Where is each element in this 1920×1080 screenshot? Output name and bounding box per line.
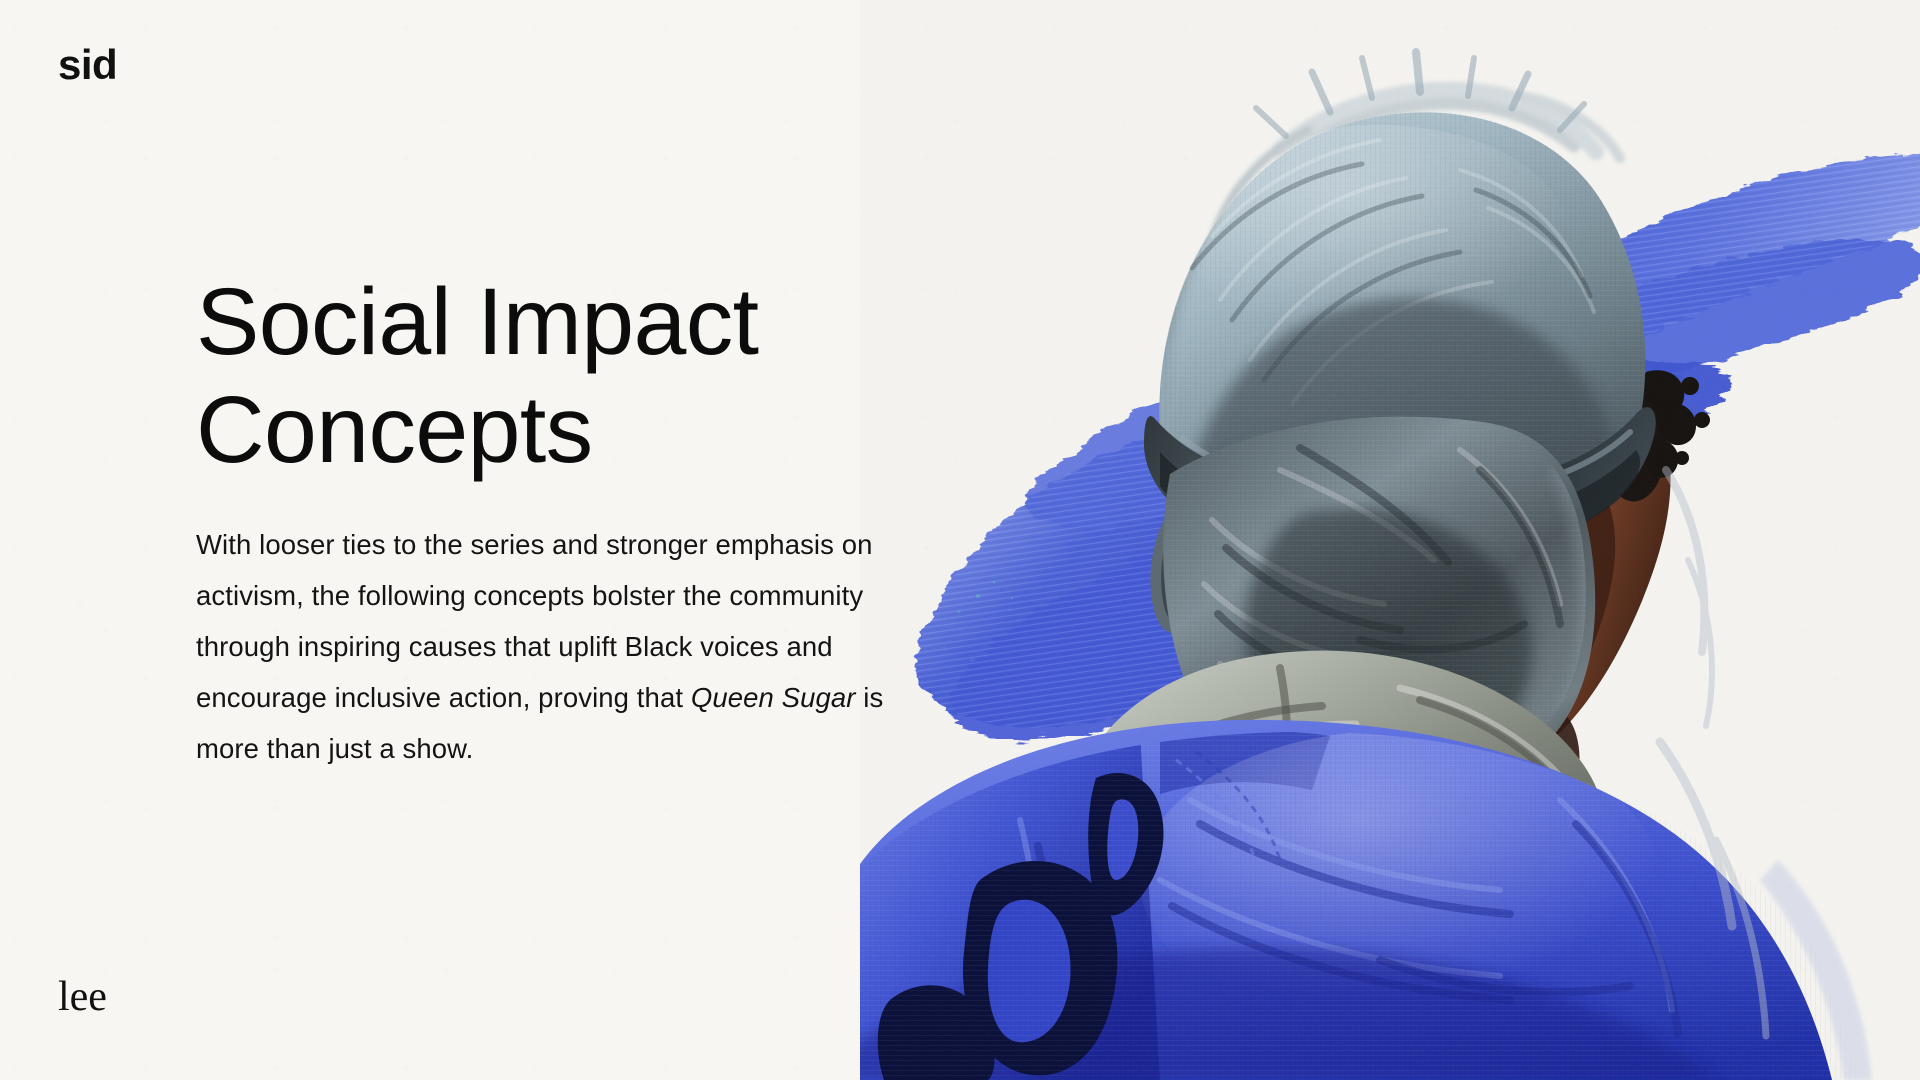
page-title: Social Impact Concepts xyxy=(196,268,896,485)
body-emphasis-queen-sugar: Queen Sugar xyxy=(691,682,856,713)
text-column: Social Impact Concepts With looser ties … xyxy=(196,268,896,774)
body-paragraph: With looser ties to the series and stron… xyxy=(196,519,896,775)
artwork-svg xyxy=(860,0,1920,1080)
logo-lee: lee xyxy=(58,976,107,1018)
logo-sid: sid xyxy=(58,44,117,86)
artwork-painted-portrait xyxy=(860,0,1920,1080)
artwork-grain xyxy=(860,0,1920,1080)
